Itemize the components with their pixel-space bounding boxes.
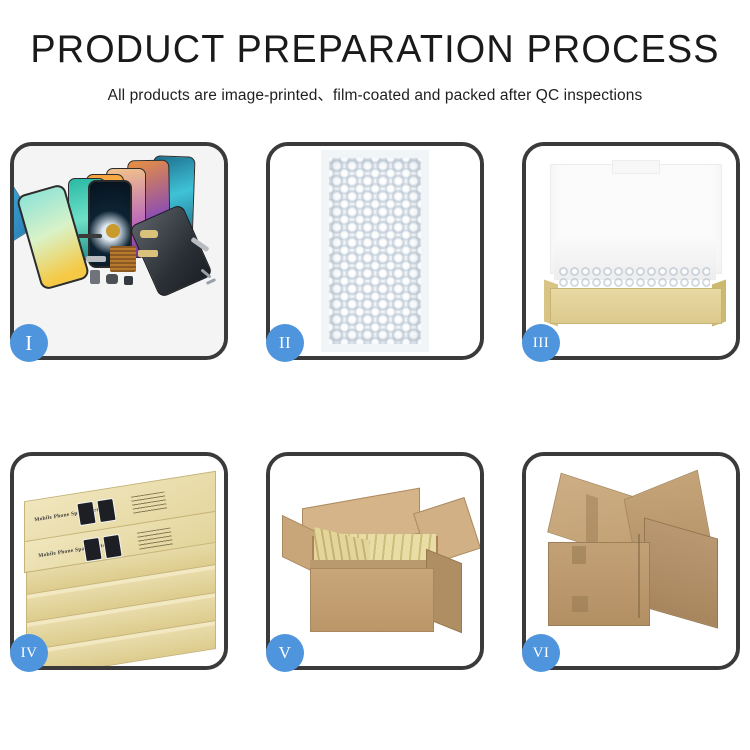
step-image-5 (270, 456, 480, 666)
step-image-6 (526, 456, 736, 666)
page-subtitle: All products are image-printed、film-coat… (0, 83, 750, 105)
part-icon (138, 250, 158, 257)
step-badge-2: II (266, 324, 304, 362)
carton-front (310, 568, 434, 632)
step-image-4: Mobile Phone Spare Parts Mobile Phone Sp… (14, 456, 224, 666)
part-icon (140, 230, 158, 238)
screw-icon (206, 278, 216, 285)
step-panel-4[interactable]: Mobile Phone Spare Parts Mobile Phone Sp… (10, 452, 228, 670)
step-image-3 (526, 146, 736, 356)
part-icon (90, 270, 100, 284)
step-panel-5[interactable]: V (266, 452, 484, 670)
bubble-wrap-icon (329, 158, 421, 344)
step-badge-5: V (266, 634, 304, 672)
box-stack-group: Mobile Phone Spare Parts Mobile Phone Sp… (16, 482, 224, 658)
box-front-icon (550, 288, 722, 324)
part-icon (106, 274, 118, 284)
step-panel-2[interactable]: II (266, 142, 484, 360)
carton-seam (638, 534, 640, 618)
page-title: PRODUCT PREPARATION PROCESS (11, 30, 739, 69)
step-badge-1: I (10, 324, 48, 362)
process-steps-grid: I II III (10, 142, 740, 670)
carton-tab (572, 596, 588, 612)
box-screen-graphic (76, 501, 96, 526)
box-screen-graphic (96, 498, 116, 523)
part-icon (110, 246, 136, 272)
carton-front (548, 542, 650, 626)
step-panel-3[interactable]: III (522, 142, 740, 360)
step-badge-6: VI (522, 634, 560, 672)
step-panel-1[interactable]: I (10, 142, 228, 360)
box-screen-graphic (102, 534, 122, 559)
part-icon (78, 234, 102, 238)
step-image-2 (270, 146, 480, 356)
step-panel-6[interactable]: VI (522, 452, 740, 670)
step-badge-3: III (522, 324, 560, 362)
box-flap-icon (612, 160, 660, 174)
part-icon (86, 256, 106, 262)
step-badge-4: IV (10, 634, 48, 672)
box-screen-graphic (82, 537, 102, 562)
part-icon (106, 224, 120, 238)
part-icon (124, 276, 133, 285)
step-image-1 (14, 146, 224, 356)
page-header: PRODUCT PREPARATION PROCESS All products… (0, 0, 750, 105)
carton-tab (572, 546, 586, 564)
